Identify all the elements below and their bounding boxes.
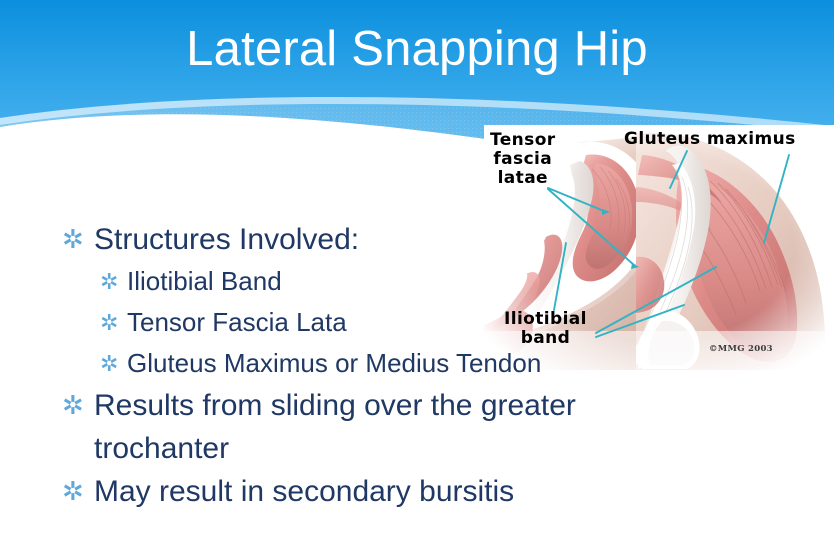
figure-label-tfl-line3: latae [490,169,556,188]
bullet-item: ✲ Tensor Fascia Lata [0,302,700,343]
bullet-item: ✲ Gluteus Maximus or Medius Tendon [0,343,700,384]
asterisk-bullet-icon: ✲ [62,218,94,261]
figure-label-tfl-line2: fascia [490,150,556,169]
figure-credit: ©MMG 2003 [709,344,773,354]
figure-label-tfl-line1: Tensor [490,131,556,150]
slide-title: Lateral Snapping Hip [0,21,834,77]
bullet-text: May result in secondary bursitis [94,470,700,513]
asterisk-bullet-icon: ✲ [100,343,127,384]
bullet-item: ✲ May result in secondary bursitis [0,470,700,513]
figure-label-tensor-fascia-latae: Tensor fascia latae [490,131,556,188]
bullet-item: ✲ Structures Involved: [0,218,700,261]
slide-body: ✲ Structures Involved: ✲ Iliotibial Band… [0,218,700,513]
asterisk-bullet-icon: ✲ [62,384,94,427]
asterisk-bullet-icon: ✲ [62,470,94,513]
asterisk-bullet-icon: ✲ [100,261,127,302]
bullet-item: ✲ Iliotibial Band [0,261,700,302]
bullet-text: Tensor Fascia Lata [127,302,700,343]
bullet-text: Gluteus Maximus or Medius Tendon [127,343,700,384]
bullet-text: Iliotibial Band [127,261,700,302]
figure-label-gluteus-maximus: Gluteus maximus [624,130,796,149]
bullet-text: Structures Involved: [94,218,700,261]
slide: Lateral Snapping Hip [0,0,834,554]
asterisk-bullet-icon: ✲ [100,302,127,343]
bullet-item: ✲ Results from sliding over the greater … [0,384,700,470]
bullet-text: Results from sliding over the greater tr… [94,384,700,470]
